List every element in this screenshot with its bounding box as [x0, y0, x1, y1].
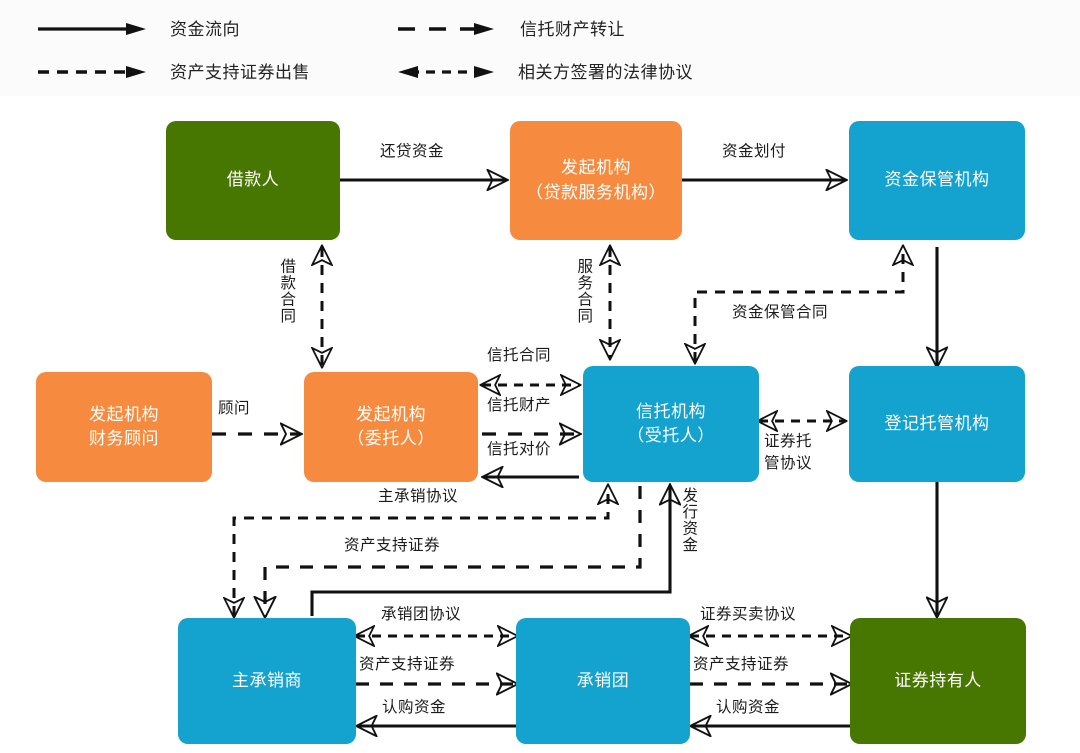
edge-label-subscription-right: 认购资金 [716, 698, 780, 716]
node-lead-underwriter[interactable]: 主承销商 [178, 618, 356, 744]
node-lead-underwriter-line-1: 主承销商 [232, 669, 302, 693]
edge-label-issue-funds: 发行资金 [680, 487, 698, 553]
node-originator-trustor-line-2: （委托人） [347, 427, 435, 451]
node-fund-custodian-line-1: 资金保管机构 [885, 168, 990, 192]
node-trust-institution-line-1: 信托机构 [636, 400, 706, 424]
edge-label-syndicate-agreement: 承销团协议 [381, 605, 461, 623]
edge-label-abs-right: 资产支持证券 [693, 655, 789, 673]
node-syndicate[interactable]: 承销团 [516, 618, 690, 744]
edge-label-trust-contract: 信托合同 [487, 346, 551, 364]
edge-abs-mid [265, 486, 640, 616]
node-borrower-line-1: 借款人 [227, 168, 280, 192]
edge-label-securities-trade-agreement: 证券买卖协议 [700, 605, 796, 623]
edge-label-advisory: 顾问 [218, 399, 250, 417]
edge-label-repay-funds: 还贷资金 [380, 142, 444, 160]
diagram-canvas: 资金流向 信托财产转让 资产支持证券出售 [0, 0, 1080, 753]
node-originator-trustor[interactable]: 发起机构 （委托人） [304, 372, 478, 482]
node-borrower[interactable]: 借款人 [166, 121, 340, 240]
node-trust-institution-line-2: （受托人） [627, 424, 715, 448]
node-security-holder-line-1: 证券持有人 [894, 669, 982, 693]
node-fund-custodian[interactable]: 资金保管机构 [849, 121, 1025, 240]
node-financial-advisor-line-2: 财务顾问 [89, 427, 159, 451]
edge-label-trust-consideration: 信托对价 [487, 440, 551, 458]
node-financial-advisor-line-1: 发起机构 [89, 403, 159, 427]
node-originator-loan-servicer-line-1: 发起机构 [561, 156, 631, 180]
edge-label-securities-custody-agreement-line-2: 管协议 [764, 454, 812, 472]
node-registrar[interactable]: 登记托管机构 [849, 366, 1025, 482]
edge-label-trust-property: 信托财产 [487, 396, 551, 414]
node-trust-institution[interactable]: 信托机构 （受托人） [583, 366, 759, 482]
node-security-holder[interactable]: 证券持有人 [850, 618, 1026, 744]
node-originator-loan-servicer[interactable]: 发起机构 （贷款服务机构） [510, 121, 682, 240]
edge-label-lead-underwriting-agreement: 主承销协议 [378, 487, 458, 505]
edge-label-subscription-left: 认购资金 [382, 698, 446, 716]
edge-label-fund-transfer: 资金划付 [722, 142, 786, 160]
node-registrar-line-1: 登记托管机构 [885, 412, 990, 436]
edge-label-securities-custody-agreement-line-1: 证券托 [764, 432, 812, 450]
edge-label-abs-left: 资产支持证券 [359, 655, 455, 673]
edge-label-loan-contract: 借款合同 [278, 258, 296, 324]
edge-label-fund-custody-contract: 资金保管合同 [732, 303, 828, 321]
edge-label-abs-mid: 资产支持证券 [344, 536, 440, 554]
node-originator-loan-servicer-line-2: （贷款服务机构） [526, 181, 666, 205]
node-originator-trustor-line-1: 发起机构 [356, 403, 426, 427]
node-financial-advisor[interactable]: 发起机构 财务顾问 [36, 372, 212, 482]
edge-label-service-contract: 服务合同 [575, 258, 593, 324]
node-syndicate-line-1: 承销团 [577, 669, 630, 693]
